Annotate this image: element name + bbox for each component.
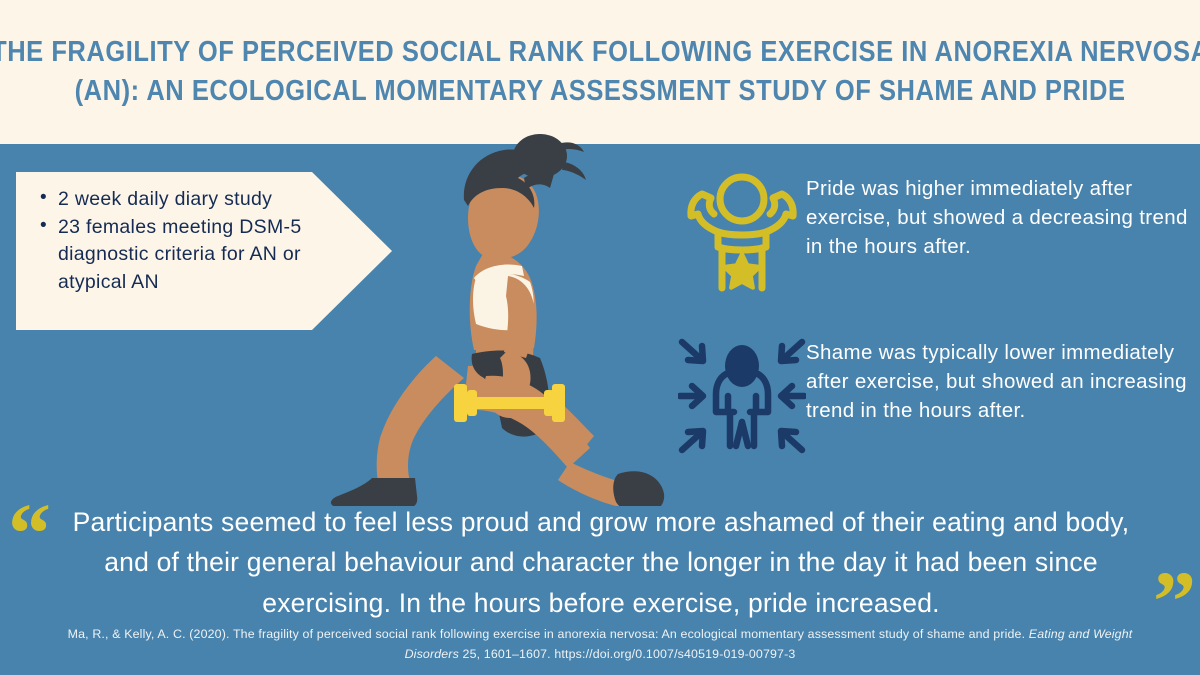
finding-pride: Pride was higher immediately after exerc… [678,170,1196,299]
finding-shame: Shame was typically lower immediately af… [678,334,1196,463]
page-title-line-2: (AN): AN ECOLOGICAL MOMENTARY ASSESSMENT… [75,72,1126,111]
citation: Ma, R., & Kelly, A. C. (2020). The fragi… [0,624,1200,664]
citation-authors-year: Ma, R., & Kelly, A. C. (2020). [68,627,230,641]
method-summary-panel: 2 week daily diary study 23 females meet… [16,172,392,330]
header-banner: THE FRAGILITY OF PERCEIVED SOCIAL RANK F… [0,0,1200,144]
list-item: 23 females meeting DSM-5 diagnostic crit… [38,214,306,297]
citation-volume-pages: 25, 1601–1607. [463,647,551,661]
flexing-figure-star-icon [678,170,806,299]
citation-doi: https://doi.org/0.1007/s40519-019-00797-… [554,647,795,661]
citation-article-title: The fragility of perceived social rank f… [233,627,1025,641]
quote-open-mark: “ [8,490,49,576]
finding-shame-text: Shame was typically lower immediately af… [806,334,1196,425]
list-item: 2 week daily diary study [38,186,306,214]
finding-pride-text: Pride was higher immediately after exerc… [806,170,1196,261]
pull-quote: “ Participants seemed to feel less proud… [0,494,1200,612]
woman-lunging-with-dumbbells-illustration [318,126,684,506]
hunched-figure-inward-arrows-icon [678,334,806,463]
page-title-line-1: THE FRAGILITY OF PERCEIVED SOCIAL RANK F… [0,33,1200,72]
quote-text: Participants seemed to feel less proud a… [64,502,1138,623]
method-bullet-list: 2 week daily diary study 23 females meet… [38,186,392,297]
